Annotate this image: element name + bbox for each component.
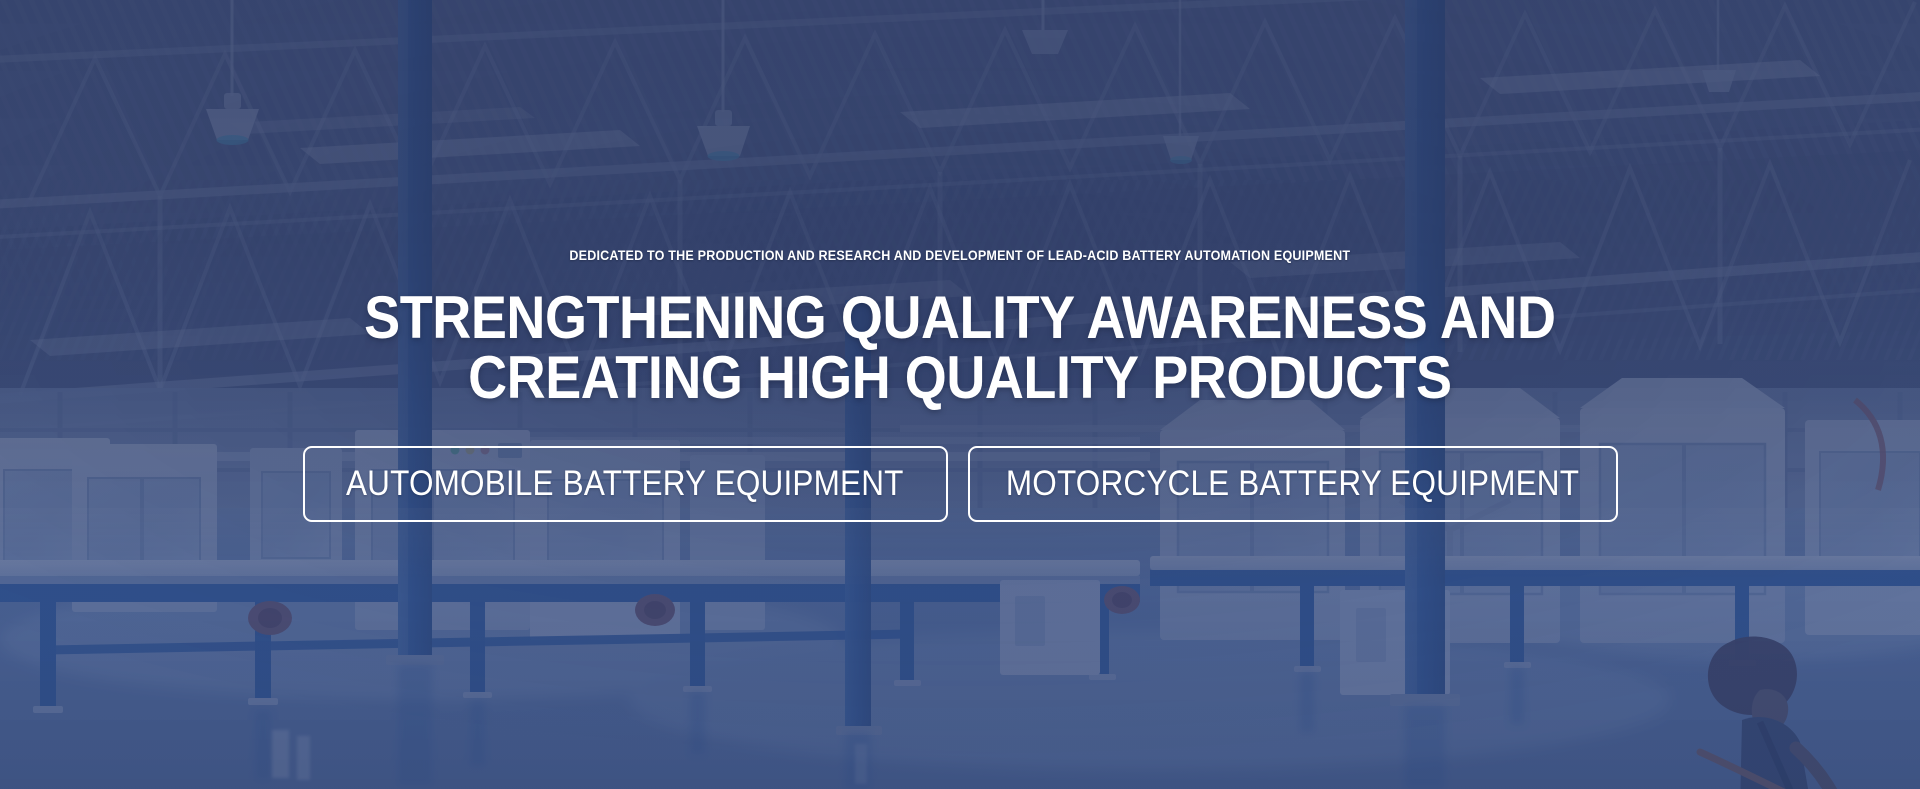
headline-line-2: CREATING HIGH QUALITY PRODUCTS bbox=[364, 348, 1555, 408]
hero-content: DEDICATED TO THE PRODUCTION AND RESEARCH… bbox=[0, 0, 1920, 789]
motorcycle-battery-equipment-label: MOTORCYCLE BATTERY EQUIPMENT bbox=[1006, 466, 1579, 501]
automobile-battery-equipment-button[interactable]: AUTOMOBILE BATTERY EQUIPMENT bbox=[303, 446, 948, 522]
hero-banner: DEDICATED TO THE PRODUCTION AND RESEARCH… bbox=[0, 0, 1920, 789]
automobile-battery-equipment-label: AUTOMOBILE BATTERY EQUIPMENT bbox=[346, 466, 904, 501]
motorcycle-battery-equipment-button[interactable]: MOTORCYCLE BATTERY EQUIPMENT bbox=[968, 446, 1618, 522]
cta-button-row: AUTOMOBILE BATTERY EQUIPMENT MOTORCYCLE … bbox=[303, 446, 1618, 522]
headline-line-1: STRENGTHENING QUALITY AWARENESS AND bbox=[364, 288, 1555, 348]
hero-eyebrow: DEDICATED TO THE PRODUCTION AND RESEARCH… bbox=[570, 249, 1351, 263]
hero-headline: STRENGTHENING QUALITY AWARENESS AND CREA… bbox=[364, 288, 1555, 408]
